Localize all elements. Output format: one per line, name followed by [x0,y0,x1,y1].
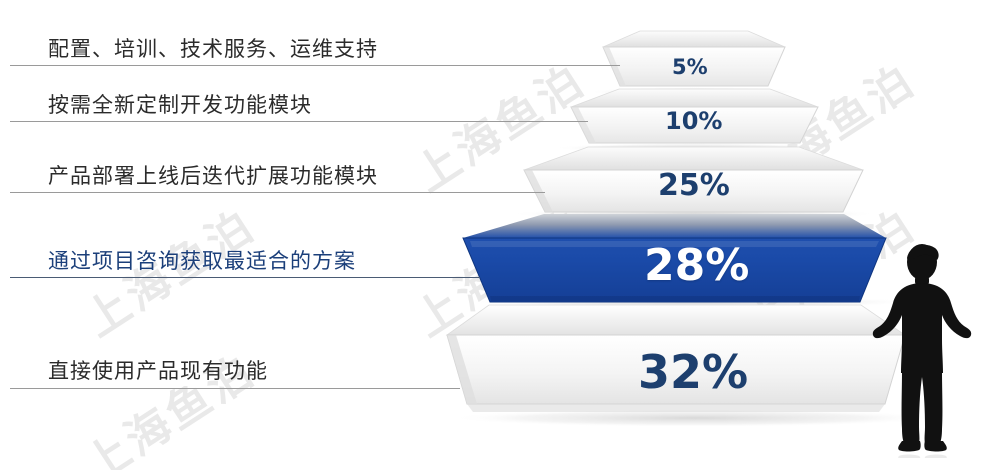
leader-line-2 [10,121,588,122]
leader-line-1 [10,65,620,66]
pyramid-tier-2[interactable] [571,89,818,143]
tier-label-3: 产品部署上线后迭代扩展功能模块 [48,160,378,190]
pyramid-chart-canvas: 上海鱼泊 上海鱼泊 上海鱼泊 上海鱼泊 上海鱼泊 上海鱼泊 [0,0,988,470]
pyramid-tier-4-highlight[interactable] [463,214,886,302]
tier-label-4: 通过项目咨询获取最适合的方案 [48,245,356,275]
leader-line-5 [10,388,460,389]
pyramid-tier-1[interactable] [603,31,785,86]
pyramid-tier-3[interactable] [524,147,863,212]
leader-line-3 [10,192,545,193]
person-silhouette-icon [866,243,978,458]
tier-label-1: 配置、培训、技术服务、运维支持 [48,33,378,63]
leader-line-4 [10,277,480,278]
pyramid-tier-5[interactable] [447,305,905,412]
tier-label-2: 按需全新定制开发功能模块 [48,89,312,119]
tier-label-5: 直接使用产品现有功能 [48,355,268,385]
pyramid-graphic [0,0,988,470]
